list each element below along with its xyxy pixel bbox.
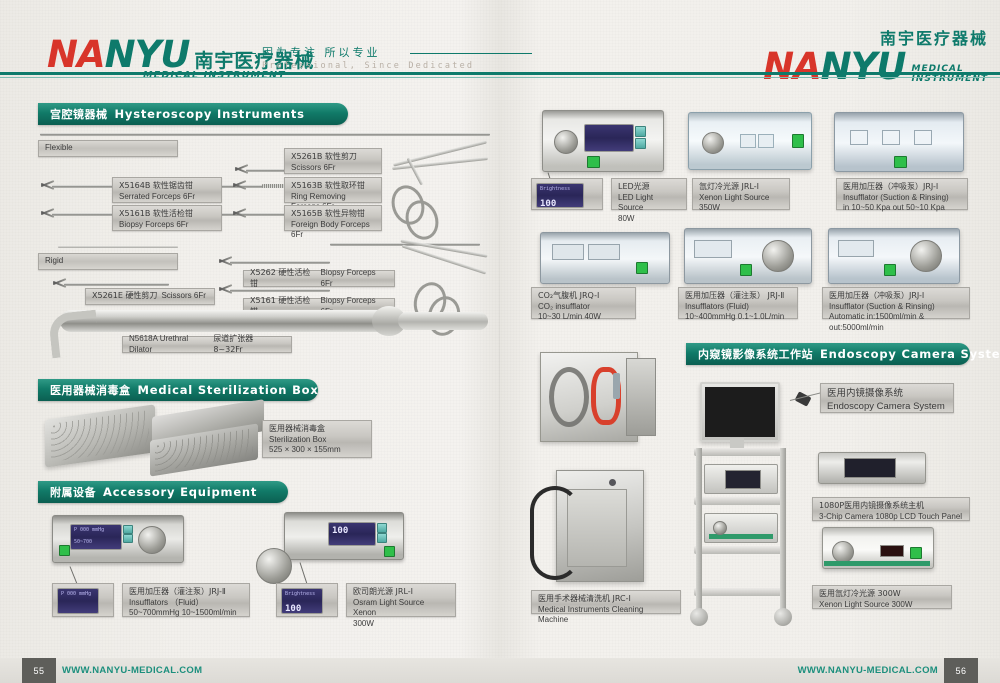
section-camera-en: Endoscopy Camera System (820, 347, 1000, 361)
forceps-hinge-bar (407, 158, 424, 186)
cart-caster-right (774, 608, 792, 626)
cleaning-machine-upper (540, 352, 638, 442)
section-accessory: 附属设备 Accessory Equipment (38, 481, 288, 503)
tag-rigid: Rigid (38, 253, 178, 270)
label-rigid-scissors: X5261E 硬性剪刀 Scissors 6Fr (85, 288, 215, 305)
cart-post-right (780, 448, 786, 613)
header-rule (0, 72, 1000, 75)
cart-camera-unit-screen (725, 470, 761, 489)
led-button-down[interactable] (635, 138, 646, 149)
suction-1-power-button[interactable] (894, 156, 907, 168)
device-xenon-300 (822, 527, 934, 569)
section-sterilization: 医用器械消毒盒 Medical Sterilization Box (38, 379, 318, 401)
insufflator-display-value: 50~700 (71, 537, 121, 549)
osram-button-down[interactable] (377, 533, 387, 543)
label-flexible-scissors: X5261B 软性剪刀 Scissors 6Fr (284, 148, 382, 174)
label-flexible-foreign: X5165B 软性异物钳 Foreign Body Forceps 6Fr (284, 205, 382, 231)
xenon-300-display (880, 545, 904, 557)
page-number-right: 56 (944, 658, 978, 683)
cleaning-hose-gray (549, 367, 589, 427)
xenon-350-port[interactable] (702, 132, 724, 154)
suction-1-display-c (914, 130, 932, 145)
device-insufflator-fluid-thumb: P 000 mmHg (52, 583, 114, 617)
device-osram-thumb: Brightness 100 (276, 583, 338, 617)
device-led-screen (584, 124, 634, 152)
device-insufflator-suction-2 (828, 228, 960, 284)
cart-shelf-2 (694, 497, 786, 505)
fluid-2-display (694, 240, 732, 258)
section-camera-cn: 内窥镜影像系统工作站 (698, 346, 813, 362)
section-hysteroscopy: 宫腔镜器械 Hysteroscopy Instruments (38, 103, 348, 125)
dilator-tip-curve (48, 310, 100, 359)
instrument-shaft-divider (58, 246, 178, 248)
insufflator-thumb-screen: P 000 mmHg (57, 588, 99, 614)
page-gutter (499, 86, 500, 626)
label-sterilization-box: 医用器械消毒盒 Sterilization Box 525 × 300 × 15… (262, 420, 372, 458)
led-thumb-label: Brightness (537, 184, 583, 196)
label-urethral-dilator: N5618A Urethral Dilator 尿道扩张器 8~32Fr (122, 336, 292, 353)
led-power-button[interactable] (587, 156, 600, 168)
callout-line-2 (300, 562, 308, 585)
cart-shelf-1 (694, 448, 786, 456)
label-flexible-ring: X5163B 软性取环钳 Ring Removing Forceps 6Fr (284, 177, 382, 203)
instrument-shaft-rigid-biopsy-1 (230, 261, 330, 264)
slogan-rule-right (410, 53, 532, 54)
instrument-shaft-rigid-scissors (64, 283, 169, 286)
fluid-2-pump-head[interactable] (762, 240, 794, 272)
osram-thumb-label: Brightness (282, 589, 322, 601)
led-button-up[interactable] (635, 126, 646, 137)
osram-power-button[interactable] (384, 546, 395, 557)
label-xenon-300: 医用氙灯冷光源 300W Xenon Light Source 300W (812, 585, 952, 609)
cleaning-machine-upper-side (626, 358, 656, 436)
label-co2-insufflator: CO₂气腹机 JRQ-Ⅰ CO₂ insufflator 10~30 L/min… (531, 287, 636, 319)
tag-flexible: Flexible (38, 140, 178, 157)
device-insufflator-fluid-2 (684, 228, 812, 284)
logo-right-sub2: INSTRUMENT (911, 74, 988, 84)
osram-thumb-screen: Brightness 100 (281, 588, 323, 614)
cart-monitor-screen (705, 387, 775, 437)
led-thumb-value: 100 (537, 196, 583, 209)
section-accessory-cn: 附属设备 (50, 484, 96, 500)
slogan-en: Professional, Since Dedicated (262, 61, 592, 71)
label-osram-light: 欧司朗光源 JRL-Ⅰ Osram Light Source Xenon 300… (346, 583, 456, 617)
cart-shelf-3 (694, 546, 786, 554)
xenon-350-power-button[interactable] (792, 134, 804, 148)
footer-right: WWW.NANYU-MEDICAL.COM 56 (500, 658, 1000, 683)
catalog-page: NANYU 南宇医疗器械 MEDICAL INSTRUMENT 因为专注 所以专… (0, 0, 1000, 683)
fluid-2-power-button[interactable] (740, 264, 752, 276)
tag-flexible-label: Flexible (45, 143, 73, 154)
device-1080p-camera (818, 452, 926, 484)
slogan-cn: 因为专注 所以专业 (262, 44, 592, 60)
co2-display-a (552, 244, 584, 260)
label-rigid-biopsy-1: X5262 硬性活检钳 Biopsy Forceps 6Fr (243, 270, 395, 287)
label-flexible-biopsy: X5161B 软性活检钳 Biopsy Forceps 6Fr (112, 205, 222, 231)
cleaning-spray-gun (613, 373, 620, 399)
cart-light-unit (704, 513, 778, 543)
led-thumb-screen: Brightness 100 (536, 183, 584, 208)
cart-caster-left (690, 608, 708, 626)
label-insufflator-fluid: 医用加压器（灌注泵）JRJ-Ⅱ Insufflators （Fluid） 50~… (122, 583, 250, 617)
xenon-300-power-button[interactable] (910, 547, 922, 559)
insufflator-power-button[interactable] (59, 545, 70, 556)
slogan: 因为专注 所以专业 Professional, Since Dedicated (262, 44, 592, 71)
footer-left: 55 WWW.NANYU-MEDICAL.COM (0, 658, 500, 683)
label-led-light: LED光源 LED Light Source 80W (611, 178, 687, 210)
cart-monitor-stand (730, 438, 744, 448)
label-insufflator-suction-2: 医用加压器（冲吸泵）JRJ-Ⅰ Insufflator (Suction & R… (822, 287, 970, 319)
xenon-300-port[interactable] (832, 541, 854, 563)
light-connector-port (256, 548, 292, 584)
section-camera-system: 内窥镜影像系统工作站 Endoscopy Camera System (686, 343, 970, 365)
instrument-shaft-rigid-biopsy-2 (230, 289, 330, 292)
logo-left-wordmark: NANYU (47, 36, 189, 73)
section-sterilization-cn: 医用器械消毒盒 (50, 382, 131, 398)
header-rule-thin (0, 77, 1000, 78)
section-hysteroscopy-en: Hysteroscopy Instruments (115, 107, 305, 121)
xenon-350-display-b (758, 134, 774, 148)
insufflator-knob[interactable] (138, 526, 166, 554)
label-insufflator-suction-1: 医用加压器（冲吸泵）JRJ-Ⅰ Insufflator (Suction & R… (836, 178, 968, 210)
suction-2-display (838, 240, 874, 257)
instrument-shaft-top (40, 133, 490, 136)
osram-display-value: 100 (329, 523, 375, 541)
cart-post-left (696, 448, 702, 613)
device-led-thumb: Brightness 100 (531, 178, 603, 210)
slogan-rule-left (232, 53, 256, 54)
device-insufflator-suction-1 (834, 112, 964, 172)
section-accessory-en: Accessory Equipment (103, 485, 257, 499)
label-insufflator-fluid-2: 医用加压器（灌注泵） JRJ-Ⅱ Insufflators (Fluid) 10… (678, 287, 798, 319)
logo-right-wordmark: NANYU (763, 48, 905, 85)
cleaning-machine-indicator (609, 479, 616, 486)
device-led-light (542, 110, 664, 172)
page-number-left: 55 (22, 658, 56, 683)
label-flexible-serrated: X5164B 软性锯齿钳 Serrated Forceps 6Fr (112, 177, 222, 203)
cleaning-machine-hose (530, 486, 580, 580)
suction-2-pump-head[interactable] (910, 240, 942, 272)
dilator-handle (398, 312, 488, 330)
section-sterilization-en: Medical Sterilization Box (138, 383, 319, 397)
cart-monitor (700, 382, 780, 442)
label-camera-system: 医用内镜摄像系统 Endoscopy Camera System (820, 383, 954, 413)
suction-1-display-a (850, 130, 868, 145)
cart-camera-unit (704, 464, 778, 494)
xenon-300-stripe (824, 561, 930, 566)
osram-button-up[interactable] (377, 523, 387, 533)
xenon-350-display-a (740, 134, 756, 148)
sterilization-box-perforation (51, 410, 149, 462)
page-header: NANYU 南宇医疗器械 MEDICAL INSTRUMENT 因为专注 所以专… (0, 0, 1000, 80)
tag-rigid-label: Rigid (45, 256, 63, 267)
device-1080p-camera-screen (844, 458, 896, 478)
label-1080p-camera: 1080P医用内镜摄像系统主机 3-Chip Camera 1080p LCD … (812, 497, 970, 521)
device-insufflator-fluid-screen: P 000 mmHg 50~700 (70, 524, 122, 550)
osram-thumb-value: 100 (282, 601, 322, 615)
device-co2-insufflator (540, 232, 670, 284)
insufflator-display-label: P 000 mmHg (71, 525, 121, 537)
insufflator-thumb-label: P 000 mmHg (58, 589, 98, 601)
device-osram-screen: 100 (328, 522, 376, 546)
cart-light-unit-port[interactable] (713, 521, 727, 535)
device-osram-light: 100 (284, 512, 404, 560)
footer-url-left: WWW.NANYU-MEDICAL.COM (62, 658, 202, 683)
footer-url-right: WWW.NANYU-MEDICAL.COM (798, 658, 938, 683)
sterilization-box-closed (45, 404, 155, 467)
suction-1-display-b (882, 130, 900, 145)
insufflator-button-up[interactable] (123, 525, 133, 534)
section-hysteroscopy-cn: 宫腔镜器械 (50, 106, 108, 122)
suction-2-power-button[interactable] (884, 264, 896, 276)
co2-power-button[interactable] (636, 262, 648, 274)
device-insufflator-fluid: P 000 mmHg 50~700 (52, 515, 184, 563)
dilator-shaft (60, 310, 390, 332)
label-xenon-350: 氙灯冷光源 JRL-Ⅰ Xenon Light Source 350W (692, 178, 790, 210)
label-cleaning-machine: 医用手术器械清洗机 JRC-Ⅰ Medical Instruments Clea… (531, 590, 681, 614)
led-knob[interactable] (554, 130, 578, 154)
insufflator-button-down[interactable] (123, 534, 133, 543)
co2-display-b (588, 244, 620, 260)
device-xenon-350 (688, 112, 812, 170)
cart-shelf-4 (694, 588, 786, 596)
